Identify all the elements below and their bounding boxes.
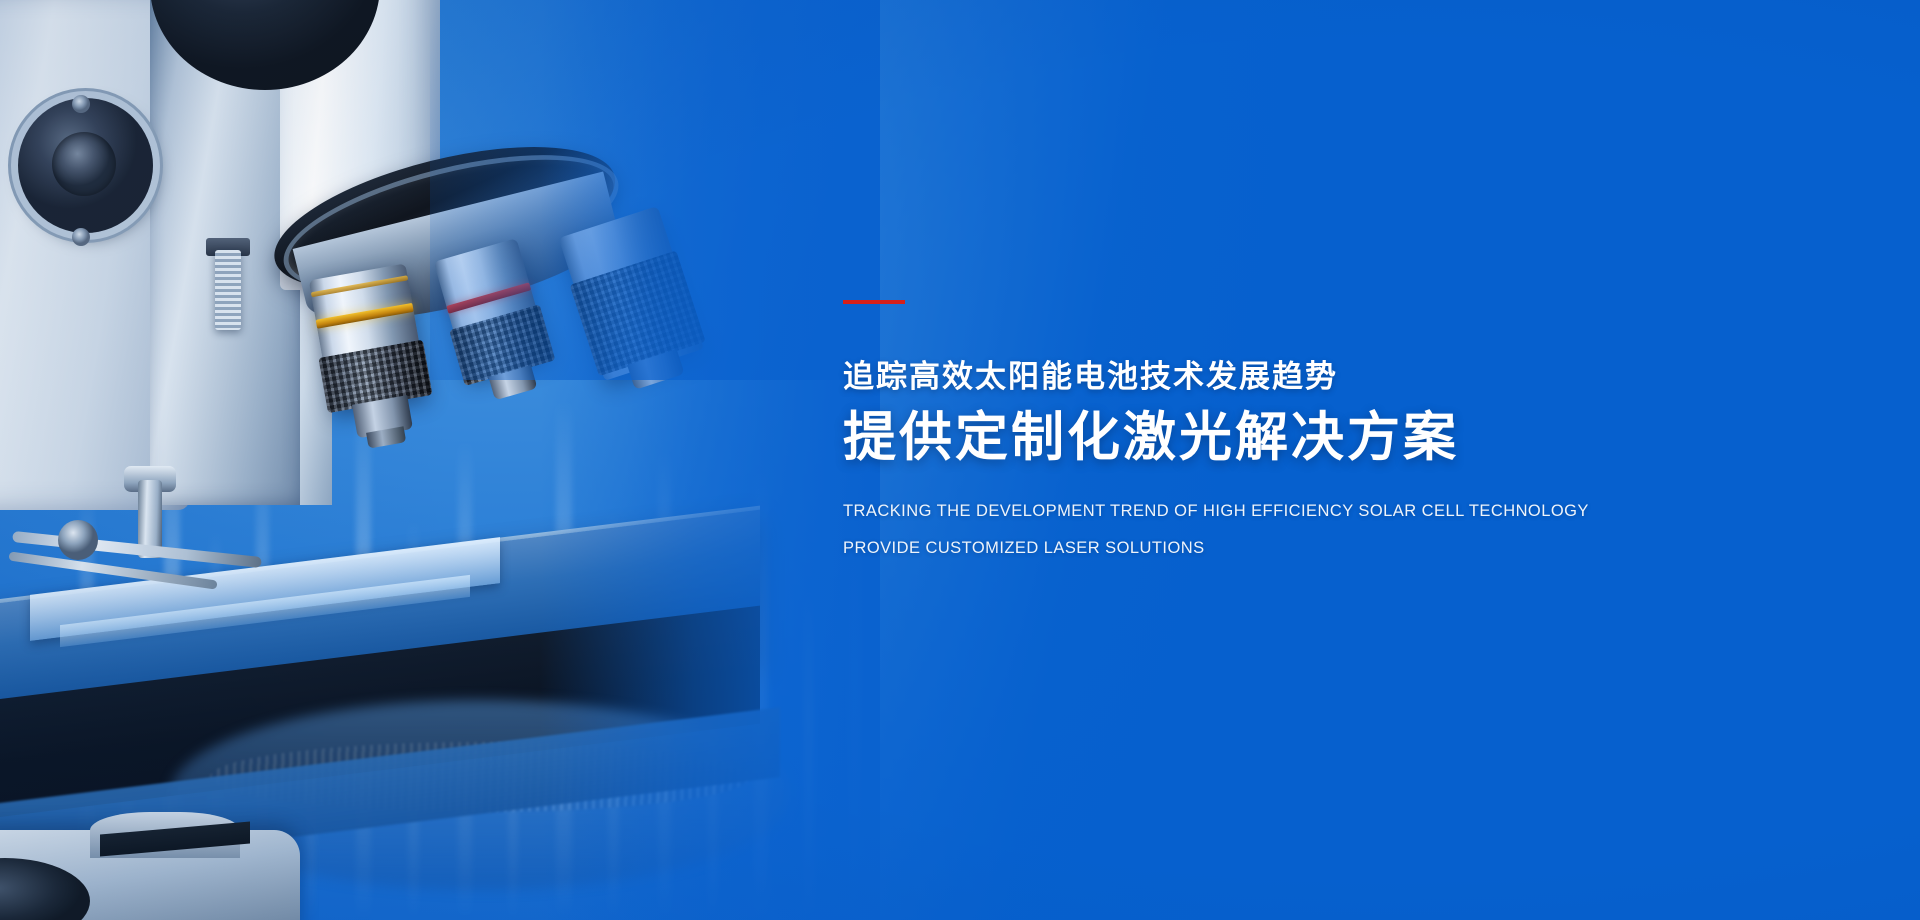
hero-banner: 追踪高效太阳能电池技术发展趋势 提供定制化激光解决方案 TRACKING THE… [0,0,1920,920]
subtitle-line-1: TRACKING THE DEVELOPMENT TREND OF HIGH E… [843,503,1623,520]
subtitle-line-2: PROVIDE CUSTOMIZED LASER SOLUTIONS [843,540,1623,557]
hero-text-block: 追踪高效太阳能电池技术发展趋势 提供定制化激光解决方案 TRACKING THE… [843,300,1623,557]
headline-secondary: 提供定制化激光解决方案 [843,408,1623,467]
red-accent-rule [843,300,905,304]
headline-primary: 追踪高效太阳能电池技术发展趋势 [843,360,1623,394]
